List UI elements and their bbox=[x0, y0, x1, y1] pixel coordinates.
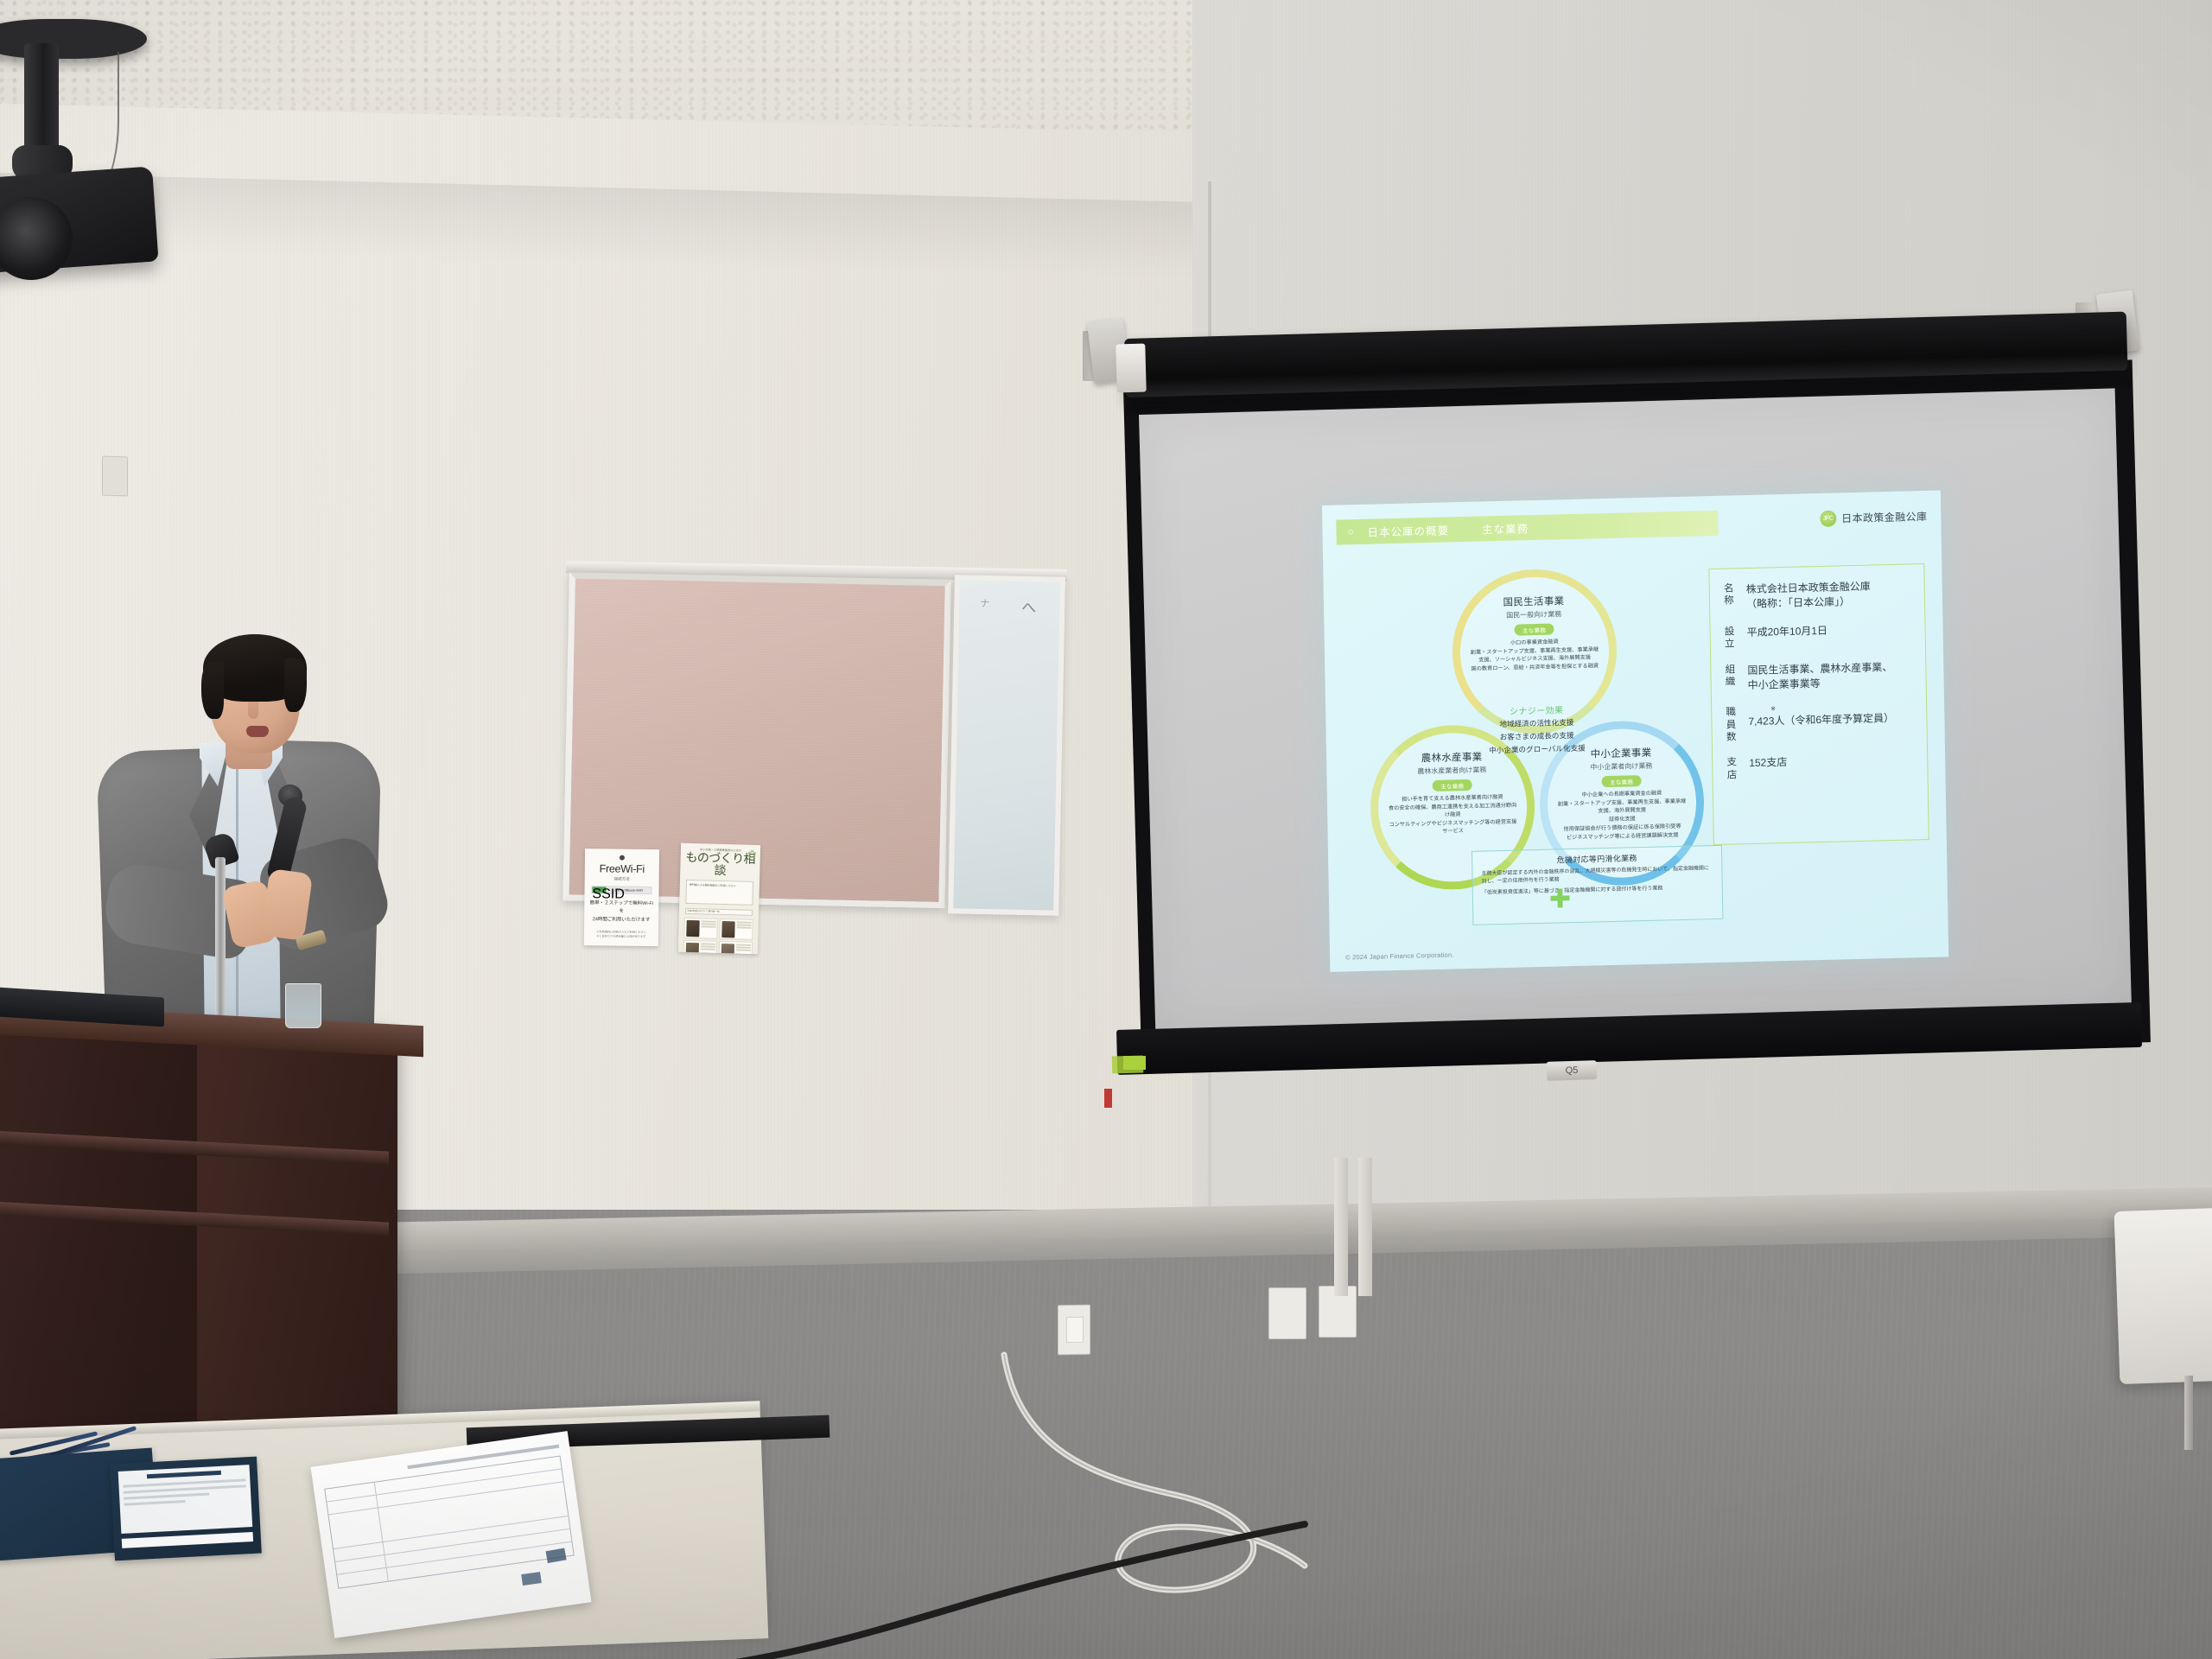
red-wall-marker bbox=[1104, 1089, 1112, 1108]
form-stamp bbox=[521, 1572, 542, 1586]
speech-bubble-icon: ○ bbox=[1347, 526, 1358, 537]
crisis-response-box: 危機対応等円滑化業務 主務大臣が認定する内外の金融秩序の混乱、大規模災害等の危機… bbox=[1471, 845, 1723, 925]
avatar bbox=[721, 920, 735, 937]
seminar-room-photo: ○ 日本公庫の概要 主な業務 JFC 日本政策金融公庫 国民生活事業 国民一般向… bbox=[0, 0, 2212, 1659]
list-item bbox=[718, 941, 753, 954]
brochure-text-line bbox=[124, 1493, 209, 1500]
screen-roller-end-cap bbox=[1116, 344, 1147, 393]
roster-meta bbox=[700, 943, 715, 954]
slide-section-label: 日本公庫の概要 bbox=[1367, 521, 1449, 539]
synergy-title: シナジー効果 bbox=[1510, 702, 1564, 717]
roster-meta bbox=[701, 920, 716, 937]
company-info-table: 名称 株式会社日本政策金融公庫 （略称：「日本公庫」） 設立 平成20年10月1… bbox=[1708, 563, 1929, 845]
wifi-poster-footnote: ※利用規約に同意のうえご利用ください ※１日あたりの通信量に上限があります bbox=[589, 930, 653, 939]
pushpin-icon bbox=[620, 855, 625, 861]
wall-plate bbox=[102, 456, 128, 497]
wall-conduit bbox=[1334, 1158, 1348, 1296]
slide-title: 主な業務 bbox=[1482, 519, 1529, 537]
info-key: 設立 bbox=[1720, 626, 1738, 651]
poster-free-wifi: FreeWi-Fi 接続方法 SSID JcP-SoftBank-WiFi 簡単… bbox=[584, 849, 659, 946]
crisis-item: 「低炭素投資促進法」等に基づき、指定金融機関に対する貸付け等を行う業務 bbox=[1482, 884, 1713, 898]
green-wall-tape bbox=[1123, 1056, 1146, 1070]
brochure-heading-bar bbox=[147, 1471, 220, 1478]
side-chair bbox=[2114, 1208, 2212, 1384]
jfc-logo: JFC 日本政策金融公庫 bbox=[1820, 508, 1927, 527]
list-item bbox=[683, 918, 718, 939]
roster-meta bbox=[735, 944, 751, 954]
hair-sideburn-right bbox=[284, 658, 307, 712]
table-row: 組織 国民生活事業、農林水産事業、 中小企業事業等 bbox=[1721, 659, 1917, 694]
brochure-text-line bbox=[124, 1500, 186, 1506]
brochure-footer-bar bbox=[122, 1532, 253, 1548]
brochure-inner-panel bbox=[118, 1465, 253, 1534]
poster-monodukuri: ✿ 中小企業・小規模事業者のための ものづくり相談 専門家による無料相談をご利用… bbox=[678, 843, 760, 954]
table-row: 設立 平成20年10月1日 bbox=[1720, 621, 1916, 651]
jfc-logo-name: 日本政策金融公庫 bbox=[1841, 509, 1927, 525]
whiteboard-mark: ナ bbox=[980, 596, 989, 610]
list-item: 創業・スタートアップ支援、事業再生支援、事業承継支援、ソーシャルビジネス支援、海… bbox=[1470, 646, 1599, 665]
wifi-ssid-row: SSID JcP-SoftBank-WiFi bbox=[591, 886, 652, 894]
roster-meta bbox=[736, 921, 752, 938]
info-value: 152支店 bbox=[1740, 755, 1788, 781]
projected-slide: ○ 日本公庫の概要 主な業務 JFC 日本政策金融公庫 国民生活事業 国民一般向… bbox=[1322, 491, 1948, 972]
plus-icon: ✚ bbox=[1549, 887, 1572, 913]
synergy-line: 地域経済の活性化支援 bbox=[1499, 717, 1573, 730]
monodukuri-note: 専門家による無料相談をご利用ください bbox=[685, 880, 753, 906]
hair-sideburn-left bbox=[201, 662, 224, 719]
corkboard: FreeWi-Fi 接続方法 SSID JcP-SoftBank-WiFi 簡単… bbox=[563, 572, 951, 908]
info-value: 国民生活事業、農林水産事業、 中小企業事業等 bbox=[1738, 659, 1893, 693]
info-key: 名称 bbox=[1720, 582, 1738, 613]
monodukuri-title: ものづくり相談 bbox=[683, 851, 757, 877]
slide-copyright: © 2024 Japan Finance Corporation. bbox=[1345, 950, 1454, 961]
list-item bbox=[683, 940, 717, 954]
mouth bbox=[246, 726, 269, 737]
podium-microphone-stand bbox=[215, 857, 226, 1028]
crisis-title: 危機対応等円滑化業務 bbox=[1481, 850, 1713, 868]
avatar bbox=[721, 943, 734, 954]
wifi-poster-subtitle: 接続方法 bbox=[590, 876, 654, 882]
brochure-front[interactable] bbox=[110, 1457, 262, 1561]
whiteboard-mark: へ bbox=[1021, 595, 1036, 617]
ssid-label: SSID bbox=[592, 887, 606, 893]
screen-pull-handle[interactable]: Q5 bbox=[1547, 1060, 1598, 1081]
water-glass bbox=[285, 983, 321, 1028]
info-value-text: 7,423人（令和6年度予算定員） bbox=[1748, 712, 1894, 728]
table-row: 名称 株式会社日本政策金融公庫 （略称：「日本公庫」） bbox=[1720, 578, 1916, 613]
monodukuri-head: 中小企業・小規模事業者のための ものづくり相談 bbox=[683, 847, 757, 877]
application-form-document[interactable] bbox=[311, 1431, 592, 1638]
venn-top-badge: 主な業務 bbox=[1515, 623, 1554, 635]
table-row: 職員数 ※ 7,423人（令和6年度予算定員） bbox=[1722, 702, 1918, 745]
power-cable-secondary bbox=[709, 1521, 1313, 1659]
venn-synergy-center: シナジー効果 地域経済の活性化支援 お客さまの成長の支援 中小企業のグローバル化… bbox=[1464, 702, 1611, 835]
synergy-line: 中小企業のグローバル化支援 bbox=[1489, 742, 1586, 756]
lectern-front-panel bbox=[197, 1015, 397, 1459]
info-key: 職員数 bbox=[1722, 707, 1740, 745]
venn-top-items: 小口の事業資金融資 創業・スタートアップ支援、事業再生支援、事業承継支援、ソーシ… bbox=[1470, 638, 1600, 675]
monodukuri-roster-heading: 令和6年度ものづくり専門家一覧 bbox=[685, 908, 753, 916]
form-stamp bbox=[546, 1548, 567, 1564]
form-grid bbox=[324, 1456, 575, 1589]
synergy-line: お客さまの成長の支援 bbox=[1500, 730, 1574, 743]
wifi-poster-title: FreeWi-Fi bbox=[590, 862, 654, 875]
presenter bbox=[99, 639, 410, 1054]
whiteboard: へ ナ bbox=[948, 575, 1065, 915]
leaf-icon: ✿ bbox=[747, 848, 757, 861]
crisis-item: 主務大臣が認定する内外の金融秩序の混乱、大規模災害等の危機発生時において、指定金… bbox=[1481, 865, 1713, 887]
avatar bbox=[686, 919, 700, 936]
side-chair-leg bbox=[2184, 1376, 2193, 1450]
jfc-mark-icon: JFC bbox=[1820, 510, 1836, 526]
venn-top-subtitle: 国民一般向け業務 bbox=[1506, 609, 1561, 620]
wall-conduit bbox=[1358, 1158, 1372, 1296]
info-value: 平成20年10月1日 bbox=[1738, 624, 1827, 651]
info-value: 株式会社日本政策金融公庫 （略称：「日本公庫」） bbox=[1738, 580, 1872, 613]
ssid-value: JcP-SoftBank-WiFi bbox=[607, 887, 652, 893]
info-key: 組織 bbox=[1721, 664, 1739, 694]
form-label-cell bbox=[328, 1508, 383, 1548]
venn-top-title: 国民生活事業 bbox=[1503, 594, 1564, 609]
info-key: 支店 bbox=[1723, 757, 1740, 782]
monodukuri-roster bbox=[683, 918, 753, 954]
wifi-poster-body: 簡単・２ステップで無料Wi-Fiを 24時間ご利用いただけます bbox=[589, 899, 653, 925]
wall-outlet bbox=[1268, 1287, 1306, 1339]
list-item bbox=[719, 918, 753, 940]
info-value: ※ 7,423人（令和6年度予算定員） bbox=[1739, 702, 1894, 743]
slide-header-band: ○ 日本公庫の概要 主な業務 bbox=[1336, 511, 1718, 545]
wall-board-assembly: FreeWi-Fi 接続方法 SSID JcP-SoftBank-WiFi 簡単… bbox=[563, 572, 1062, 918]
table-row: 支店 152支店 bbox=[1723, 753, 1918, 782]
